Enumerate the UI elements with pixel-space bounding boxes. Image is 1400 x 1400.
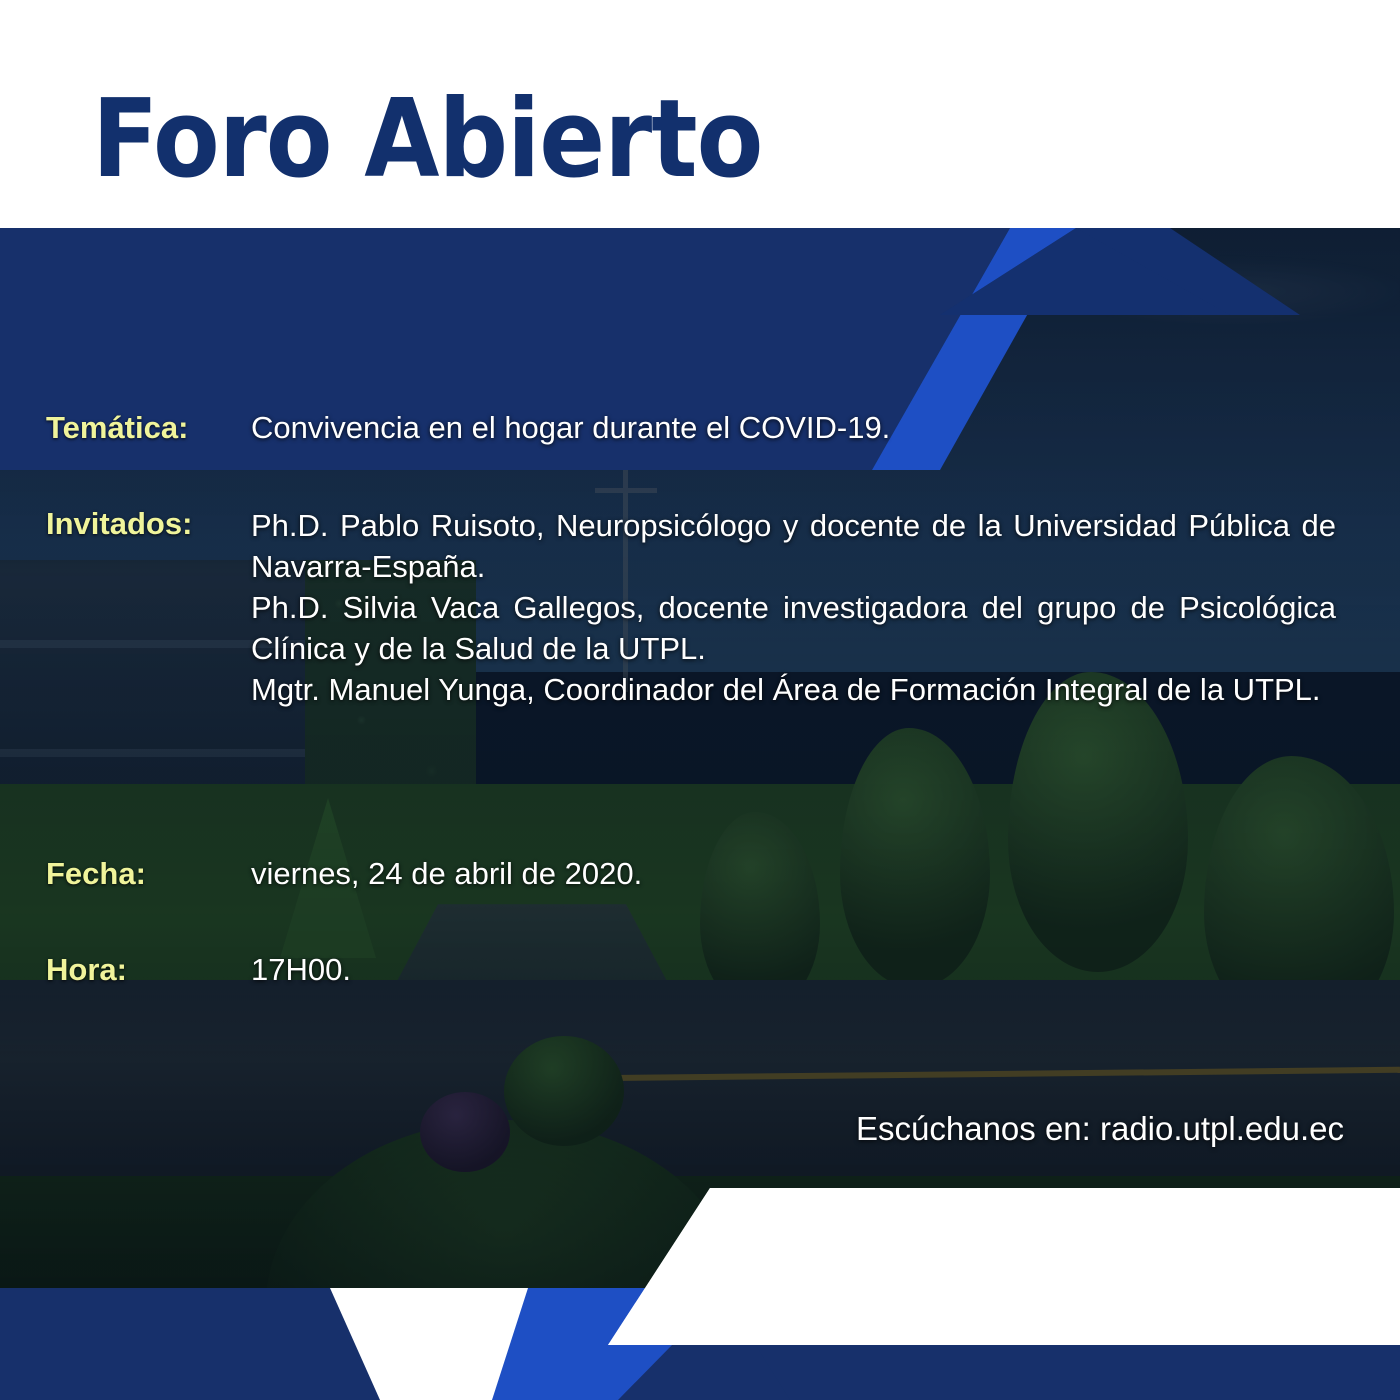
listen-url-text: Escúchanos en: radio.utpl.edu.ec xyxy=(856,1110,1344,1148)
invitados-value: Ph.D. Pablo Ruisoto, Neuropsicólogo y do… xyxy=(251,506,1336,711)
field-row-fecha: Fecha: viernes, 24 de abril de 2020. xyxy=(46,856,642,892)
hora-label: Hora: xyxy=(46,952,251,988)
content-area: Temática: Convivencia en el hogar durant… xyxy=(0,0,1400,1400)
poster-root: Foro Abierto Temática: Convivencia en el… xyxy=(0,0,1400,1400)
fecha-label: Fecha: xyxy=(46,856,251,892)
invitados-label: Invitados: xyxy=(46,506,251,711)
invitado-entry: Ph.D. Pablo Ruisoto, Neuropsicólogo y do… xyxy=(251,506,1336,588)
field-row-invitados: Invitados: Ph.D. Pablo Ruisoto, Neuropsi… xyxy=(46,506,1346,711)
fecha-value: viernes, 24 de abril de 2020. xyxy=(251,856,642,892)
tematica-value: Convivencia en el hogar durante el COVID… xyxy=(251,410,890,446)
tematica-label: Temática: xyxy=(46,410,251,446)
field-row-hora: Hora: 17H00. xyxy=(46,952,351,988)
invitado-entry: Mgtr. Manuel Yunga, Coordinador del Área… xyxy=(251,670,1336,711)
field-row-tematica: Temática: Convivencia en el hogar durant… xyxy=(46,410,890,446)
invitado-entry: Ph.D. Silvia Vaca Gallegos, docente inve… xyxy=(251,588,1336,670)
hora-value: 17H00. xyxy=(251,952,351,988)
